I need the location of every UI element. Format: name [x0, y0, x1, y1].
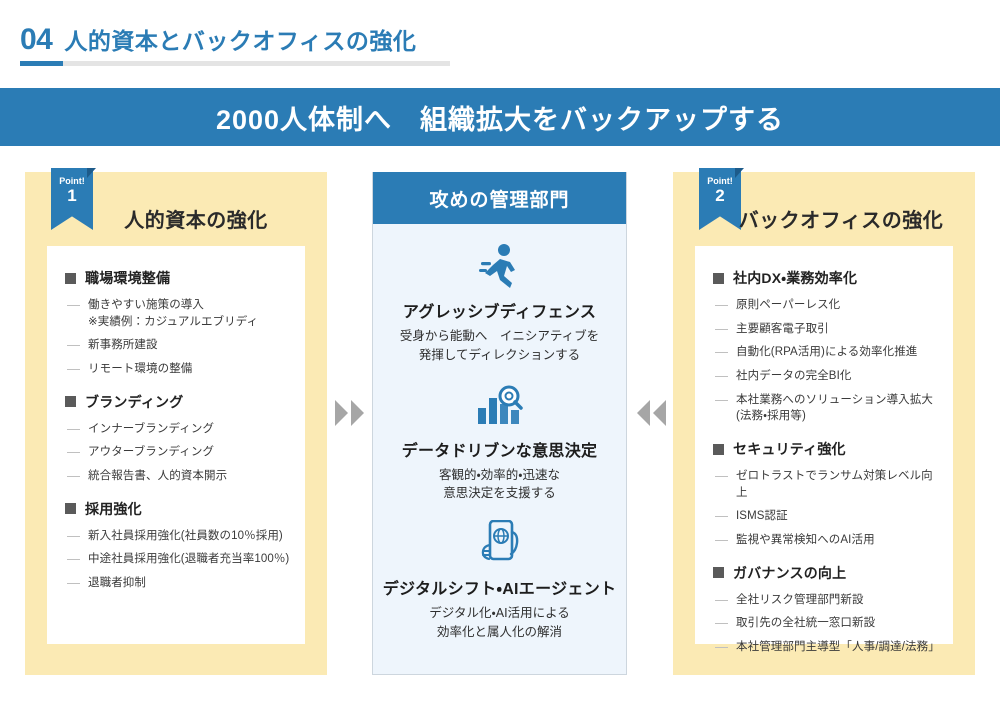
dash-icon [715, 376, 728, 377]
list-item: 中途社員採用強化(退職者充当率100％) [65, 551, 291, 568]
list-item-text: リモート環境の整備 [88, 361, 192, 378]
feature-1: データドリブンな意思決定 客観的・効率的・迅速な 意思決定を支援する [373, 381, 626, 504]
header-rule-blue [20, 61, 63, 66]
list-item-text: ISMS認証 [736, 508, 788, 525]
feature-1-desc: 客観的・効率的・迅速な 意思決定を支援する [373, 466, 626, 504]
triangle-right-icon [335, 400, 348, 426]
right-group-2: ガバナンスの向上 全社リスク管理部門新設 取引先の全社統一窓口新設 本社管理部門… [713, 563, 939, 656]
dash-icon [715, 329, 728, 330]
square-bullet-icon [713, 567, 724, 578]
dash-icon [67, 536, 80, 537]
page-title: 人的資本とバックオフィスの強化 [64, 22, 416, 56]
triangle-left-icon [653, 400, 666, 426]
left-group-1-title: ブランディング [85, 392, 183, 412]
left-card: Point! 1 人的資本の強化 職場環境整備 働きやすい施策の導入 ※実績例：… [25, 172, 327, 675]
feature-2: デジタルシフト・AIエージェント デジタル化・AI活用による 効率化と属人化の解… [373, 519, 626, 642]
ribbon-number: 1 [51, 187, 93, 205]
list-item-text: 主要顧客電子取引 [736, 321, 829, 338]
ribbon-label: Point! [51, 176, 93, 186]
right-group-1: セキュリティ強化 ゼロトラストでランサム対策レベル向上 ISMS認証 監視や異常… [713, 439, 939, 549]
dash-icon [715, 305, 728, 306]
list-item: 全社リスク管理部門新設 [713, 592, 939, 609]
header-rule-gray [20, 61, 450, 66]
list-item: 主要顧客電子取引 [713, 321, 939, 338]
list-item: 本社管理部門主導型「人事/調達/法務」 [713, 639, 939, 656]
list-item: 社内データの完全BI化 [713, 368, 939, 385]
dash-icon [715, 476, 728, 477]
list-item-text: 中途社員採用強化(退職者充当率100％) [88, 551, 289, 568]
list-item-text: 働きやすい施策の導入 ※実績例：カジュアルエブリディ [88, 297, 258, 330]
dash-icon [715, 516, 728, 517]
feature-2-title: デジタルシフト・AIエージェント [373, 575, 626, 599]
right-group-2-title: ガバナンスの向上 [733, 563, 846, 583]
dash-icon [67, 429, 80, 430]
list-item-text: インナーブランディング [88, 421, 214, 438]
list-item-text: 全社リスク管理部門新設 [736, 592, 864, 609]
dash-icon [67, 583, 80, 584]
square-bullet-icon [65, 273, 76, 284]
list-item-text: 本社業務へのソリューション導入拡大 (法務・採用等) [736, 392, 933, 425]
dash-icon [715, 623, 728, 624]
right-card-title: バックオフィスの強化 [673, 204, 975, 233]
list-item-text: 統合報告書、人的資本開示 [88, 468, 227, 485]
right-group-0-head: 社内DX・業務効率化 [713, 268, 939, 288]
ribbon-label: Point! [699, 176, 741, 186]
list-item-text: 退職者抑制 [88, 575, 146, 592]
bar-chart-magnifier-icon [373, 381, 626, 429]
list-item: 新入社員採用強化(社員数の10％採用) [65, 528, 291, 545]
list-item: 退職者抑制 [65, 575, 291, 592]
right-group-1-title: セキュリティ強化 [733, 439, 846, 459]
smartphone-globe-icon [373, 519, 626, 567]
center-card-title: 攻めの管理部門 [429, 185, 569, 212]
dash-icon [715, 400, 728, 401]
feature-0-title: アグレッシブディフェンス [373, 298, 626, 322]
list-item-text: ゼロトラストでランサム対策レベル向上 [736, 468, 939, 501]
columns-area: Point! 1 人的資本の強化 職場環境整備 働きやすい施策の導入 ※実績例：… [0, 172, 1000, 682]
list-item: インナーブランディング [65, 421, 291, 438]
feature-1-title: データドリブンな意思決定 [373, 437, 626, 461]
triangle-right-icon [351, 400, 364, 426]
square-bullet-icon [713, 273, 724, 284]
list-item-text: 原則ペーパーレス化 [736, 297, 840, 314]
left-group-0-head: 職場環境整備 [65, 268, 291, 288]
square-bullet-icon [65, 396, 76, 407]
dash-icon [715, 352, 728, 353]
list-item-text: アウターブランディング [88, 444, 214, 461]
slide-header: 04 人的資本とバックオフィスの強化 [0, 0, 1000, 78]
list-item: 本社業務へのソリューション導入拡大 (法務・採用等) [713, 392, 939, 425]
header-title-row: 04 人的資本とバックオフィスの強化 [20, 22, 416, 57]
left-group-0-title: 職場環境整備 [85, 268, 170, 288]
dash-icon [67, 476, 80, 477]
left-group-0: 職場環境整備 働きやすい施策の導入 ※実績例：カジュアルエブリディ 新事務所建設… [65, 268, 291, 378]
list-item-text: 新入社員採用強化(社員数の10％採用) [88, 528, 283, 545]
list-item: 新事務所建設 [65, 337, 291, 354]
list-item: リモート環境の整備 [65, 361, 291, 378]
right-card-inner: 社内DX・業務効率化 原則ペーパーレス化 主要顧客電子取引 自動化(RPA活用)… [695, 246, 953, 644]
feature-0: アグレッシブディフェンス 受身から能動へ イニシアティブを 発揮してディレクショ… [373, 242, 626, 365]
dash-icon [67, 559, 80, 560]
section-number: 04 [20, 23, 52, 57]
list-item: 原則ペーパーレス化 [713, 297, 939, 314]
left-group-2-head: 採用強化 [65, 499, 291, 519]
dash-icon [67, 369, 80, 370]
right-card: Point! 2 バックオフィスの強化 社内DX・業務効率化 原則ペーパーレス化… [673, 172, 975, 675]
center-card-body: アグレッシブディフェンス 受身から能動へ イニシアティブを 発揮してディレクショ… [373, 224, 626, 642]
triangle-left-icon [637, 400, 650, 426]
headline-banner-text: 2000人体制へ 組織拡大をバックアップする [216, 98, 784, 137]
arrow-left-to-center [335, 400, 364, 426]
dash-icon [67, 452, 80, 453]
list-item: 自動化(RPA活用)による効率化推進 [713, 344, 939, 361]
dash-icon [67, 305, 80, 306]
left-group-2-title: 採用強化 [85, 499, 142, 519]
list-item: 取引先の全社統一窓口新設 [713, 615, 939, 632]
center-card-header: 攻めの管理部門 [373, 172, 626, 224]
headline-banner: 2000人体制へ 組織拡大をバックアップする [0, 88, 1000, 146]
right-group-2-head: ガバナンスの向上 [713, 563, 939, 583]
running-person-icon [373, 242, 626, 290]
right-group-0-title: 社内DX・業務効率化 [733, 268, 857, 288]
dash-icon [67, 345, 80, 346]
ribbon-number: 2 [699, 187, 741, 205]
list-item: ゼロトラストでランサム対策レベル向上 [713, 468, 939, 501]
right-group-0: 社内DX・業務効率化 原則ペーパーレス化 主要顧客電子取引 自動化(RPA活用)… [713, 268, 939, 425]
list-item: 監視や異常検知へのAI活用 [713, 532, 939, 549]
feature-0-desc: 受身から能動へ イニシアティブを 発揮してディレクションする [373, 327, 626, 365]
list-item-text: 新事務所建設 [88, 337, 158, 354]
left-group-1-head: ブランディング [65, 392, 291, 412]
list-item: 統合報告書、人的資本開示 [65, 468, 291, 485]
feature-2-desc: デジタル化・AI活用による 効率化と属人化の解消 [373, 604, 626, 642]
center-card: 攻めの管理部門 アグレッシブディフェンス 受身から能動へ イニシアティブを 発揮… [372, 172, 627, 675]
arrow-right-to-center [637, 400, 666, 426]
list-item-text: 監視や異常検知へのAI活用 [736, 532, 875, 549]
square-bullet-icon [713, 444, 724, 455]
list-item: ISMS認証 [713, 508, 939, 525]
right-group-1-head: セキュリティ強化 [713, 439, 939, 459]
left-card-title: 人的資本の強化 [25, 204, 327, 233]
list-item: 働きやすい施策の導入 ※実績例：カジュアルエブリディ [65, 297, 291, 330]
left-card-inner: 職場環境整備 働きやすい施策の導入 ※実績例：カジュアルエブリディ 新事務所建設… [47, 246, 305, 644]
list-item: アウターブランディング [65, 444, 291, 461]
list-item-text: 取引先の全社統一窓口新設 [736, 615, 875, 632]
list-item-text: 社内データの完全BI化 [736, 368, 851, 385]
dash-icon [715, 540, 728, 541]
dash-icon [715, 647, 728, 648]
list-item-text: 自動化(RPA活用)による効率化推進 [736, 344, 917, 361]
left-group-1: ブランディング インナーブランディング アウターブランディング 統合報告書、人的… [65, 392, 291, 485]
square-bullet-icon [65, 503, 76, 514]
dash-icon [715, 600, 728, 601]
left-group-2: 採用強化 新入社員採用強化(社員数の10％採用) 中途社員採用強化(退職者充当率… [65, 499, 291, 592]
list-item-text: 本社管理部門主導型「人事/調達/法務」 [736, 639, 939, 656]
